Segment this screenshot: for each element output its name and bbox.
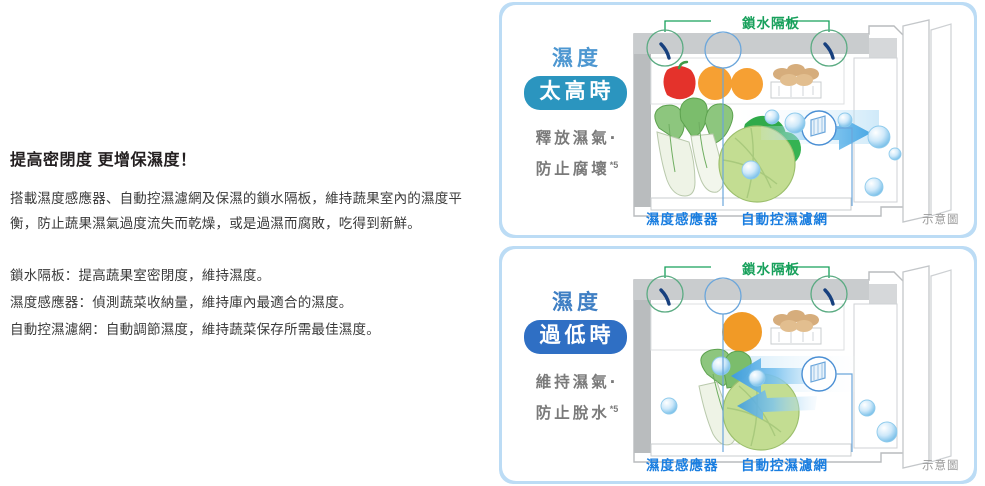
label-seal-board: 鎖水隔板 <box>742 258 800 278</box>
list-item: 自動控濕濾網：自動調節濕度，維持蔬菜保存所需最佳濕度。 <box>10 316 480 343</box>
fridge-door <box>903 266 951 468</box>
label-humidity-sensor: 濕度感應器 <box>646 208 719 228</box>
panel-humidity-low: 濕度 過低時 維持濕氣‧ 防止脫水*5 <box>499 246 977 484</box>
panel-humidity-high: 濕度 太高時 釋放濕氣‧ 防止腐壞*5 <box>499 2 977 238</box>
label-humidity-sensor: 濕度感應器 <box>646 454 719 474</box>
intro-paragraph: 搭載濕度感應器、自動控濕濾網及保濕的鎖水隔板，維持蔬果室內的濕度平衡，防止蔬果濕… <box>10 186 480 236</box>
disclaimer-note: 示意圖 <box>922 457 960 473</box>
page-title: 提高密閉度 更增保濕度！ <box>10 146 196 170</box>
feature-list: 鎖水隔板：提高蔬果室密閉度，維持濕度。 濕度感應器：偵測蔬菜收納量，維持庫內最適… <box>10 262 480 343</box>
humidity-filter-icon <box>802 357 836 391</box>
disclaimer-note: 示意圖 <box>922 211 960 227</box>
humidity-filter-icon <box>802 111 836 145</box>
article-text-column: 提高密閉度 更增保濕度！ 搭載濕度感應器、自動控濕濾網及保濕的鎖水隔板，維持蔬果… <box>0 0 495 486</box>
fruit-tray <box>651 58 844 104</box>
fridge-diagram-low <box>499 246 977 484</box>
list-item: 濕度感應器：偵測蔬菜收納量，維持庫內最適合的濕度。 <box>10 289 480 316</box>
fridge-door <box>903 20 951 222</box>
fruit-tray <box>651 304 844 352</box>
label-auto-humidity-filter: 自動控濕濾網 <box>741 208 828 228</box>
label-seal-board: 鎖水隔板 <box>742 12 800 32</box>
fridge-diagram-high <box>499 2 977 238</box>
list-item: 鎖水隔板：提高蔬果室密閉度，維持濕度。 <box>10 262 480 289</box>
diagram-panels: 濕度 太高時 釋放濕氣‧ 防止腐壞*5 <box>495 0 985 486</box>
label-auto-humidity-filter: 自動控濕濾網 <box>741 454 828 474</box>
